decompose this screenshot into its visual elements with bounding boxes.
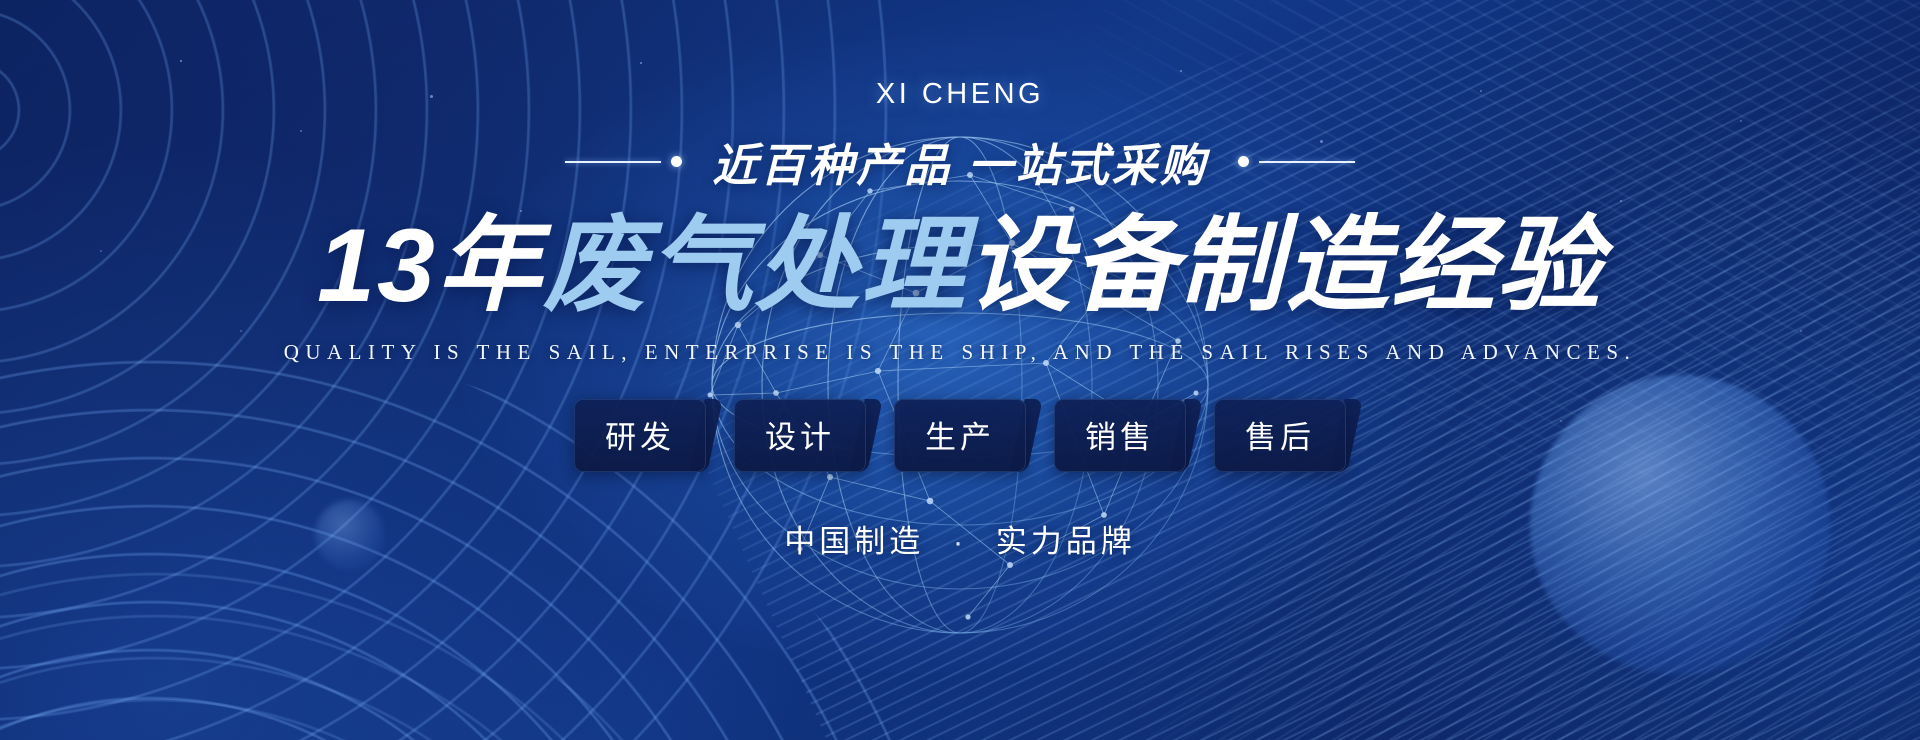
service-pill-rd[interactable]: 研发 [574,399,706,472]
brand-name-english: XI CHENG [876,78,1044,111]
footer-left-text: 中国制造 [784,524,924,559]
banner-headline: 13年废气处理设备制造经验 [317,208,1603,324]
service-pill-product[interactable]: 生产 [894,399,1026,472]
footer-right-text: 实力品牌 [996,524,1136,559]
service-pill-list: 研发 设计 生产 销售 售后 [574,399,1346,472]
decorative-rule-left [565,156,682,167]
headline-years: 13年 [317,208,543,324]
hero-banner: XI CHENG 近百种产品 一站式采购 13年废气处理设备制造经验 QUALI… [0,0,1920,740]
service-pill-aftersale[interactable]: 售后 [1214,399,1346,472]
banner-content: XI CHENG 近百种产品 一站式采购 13年废气处理设备制造经验 QUALI… [0,0,1920,740]
banner-tagline: QUALITY IS THE SAIL, ENTERPRISE IS THE S… [284,340,1637,365]
headline-highlight: 废气处理 [543,208,967,324]
rule-dot-right [1238,156,1249,167]
service-pill-sales[interactable]: 销售 [1054,399,1186,472]
service-pill-design[interactable]: 设计 [734,399,866,472]
footer-separator: · [953,524,967,559]
rule-bar-right [1259,161,1355,163]
headline-tail: 设备制造经验 [967,208,1603,324]
decorative-rule-right [1238,156,1355,167]
rule-dot-left [671,156,682,167]
banner-subtitle: 近百种产品 一站式采购 [712,129,1208,194]
rule-bar-left [565,161,661,163]
subtitle-row: 近百种产品 一站式采购 [565,129,1355,194]
banner-footer: 中国制造 · 实力品牌 [784,516,1136,561]
